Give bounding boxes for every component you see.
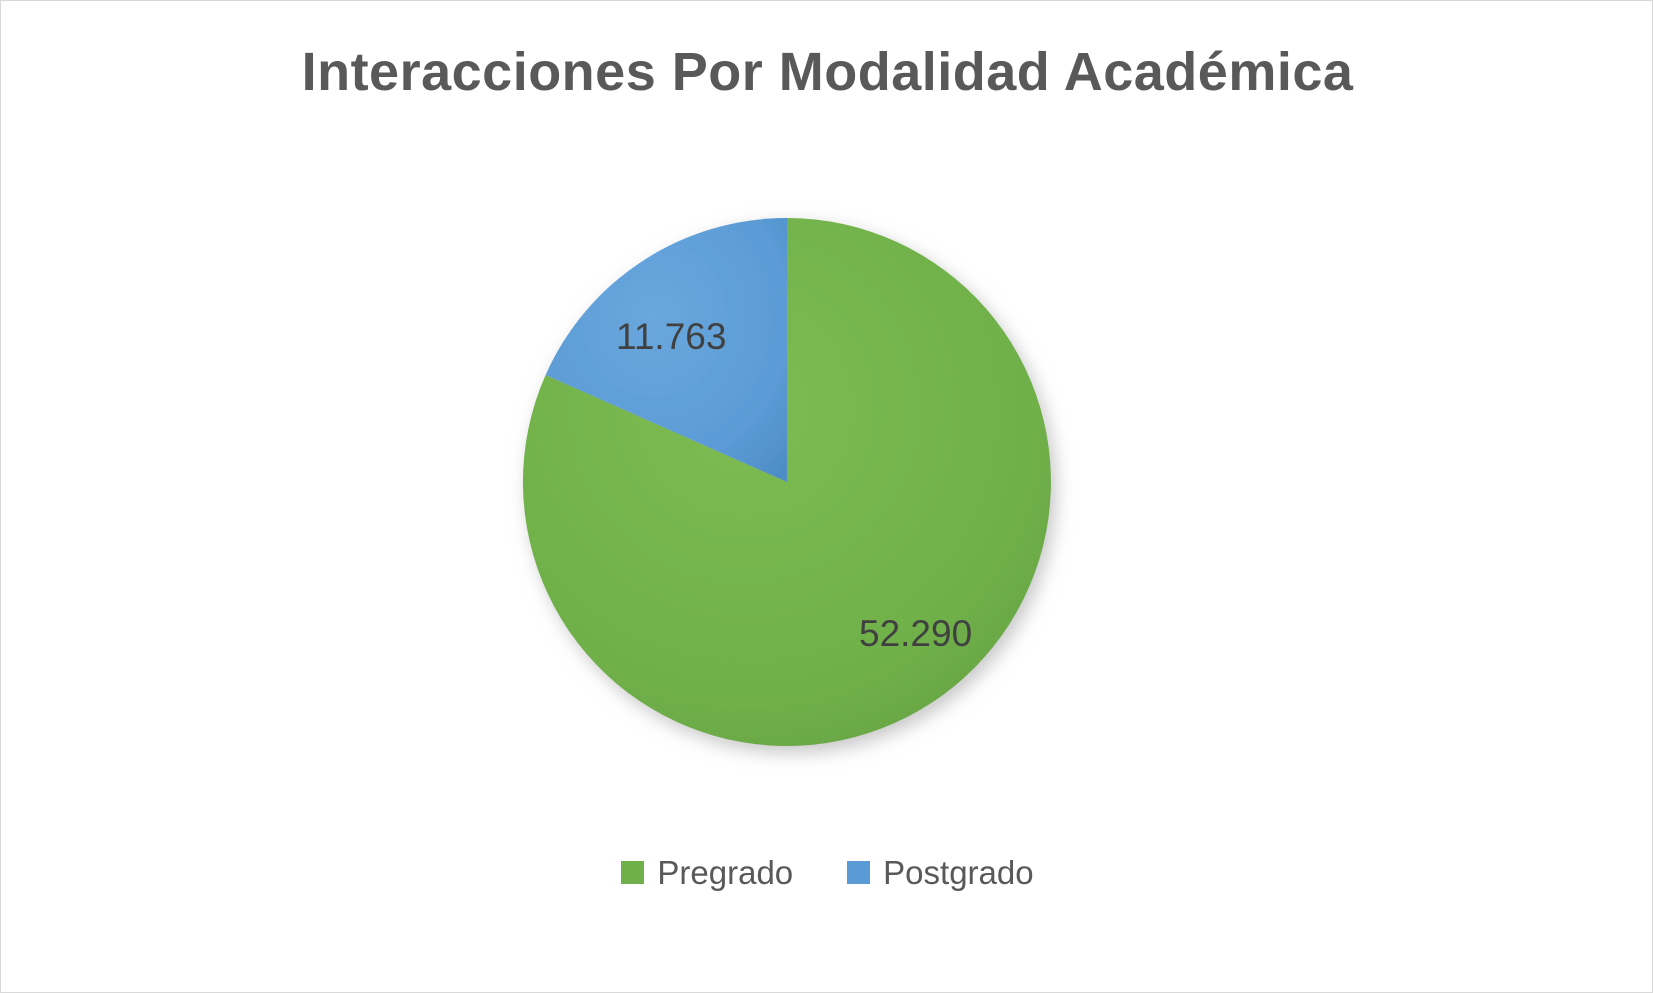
pie-svg [521, 216, 1053, 748]
legend-item-pregrado[interactable]: Pregrado [621, 856, 793, 889]
plot-area: 11.763 52.290 [1, 131, 1653, 831]
legend-label-postgrado: Postgrado [883, 856, 1033, 889]
pie-chart: 11.763 52.290 [521, 216, 1053, 748]
chart-container: Interacciones Por Modalidad Académica [0, 0, 1653, 993]
legend-swatch-pregrado-icon [621, 861, 644, 884]
chart-title: Interacciones Por Modalidad Académica [1, 41, 1653, 103]
legend-item-postgrado[interactable]: Postgrado [847, 856, 1033, 889]
chart-legend: Pregrado Postgrado [1, 856, 1653, 889]
legend-swatch-postgrado-icon [847, 861, 870, 884]
legend-label-pregrado: Pregrado [657, 856, 793, 889]
